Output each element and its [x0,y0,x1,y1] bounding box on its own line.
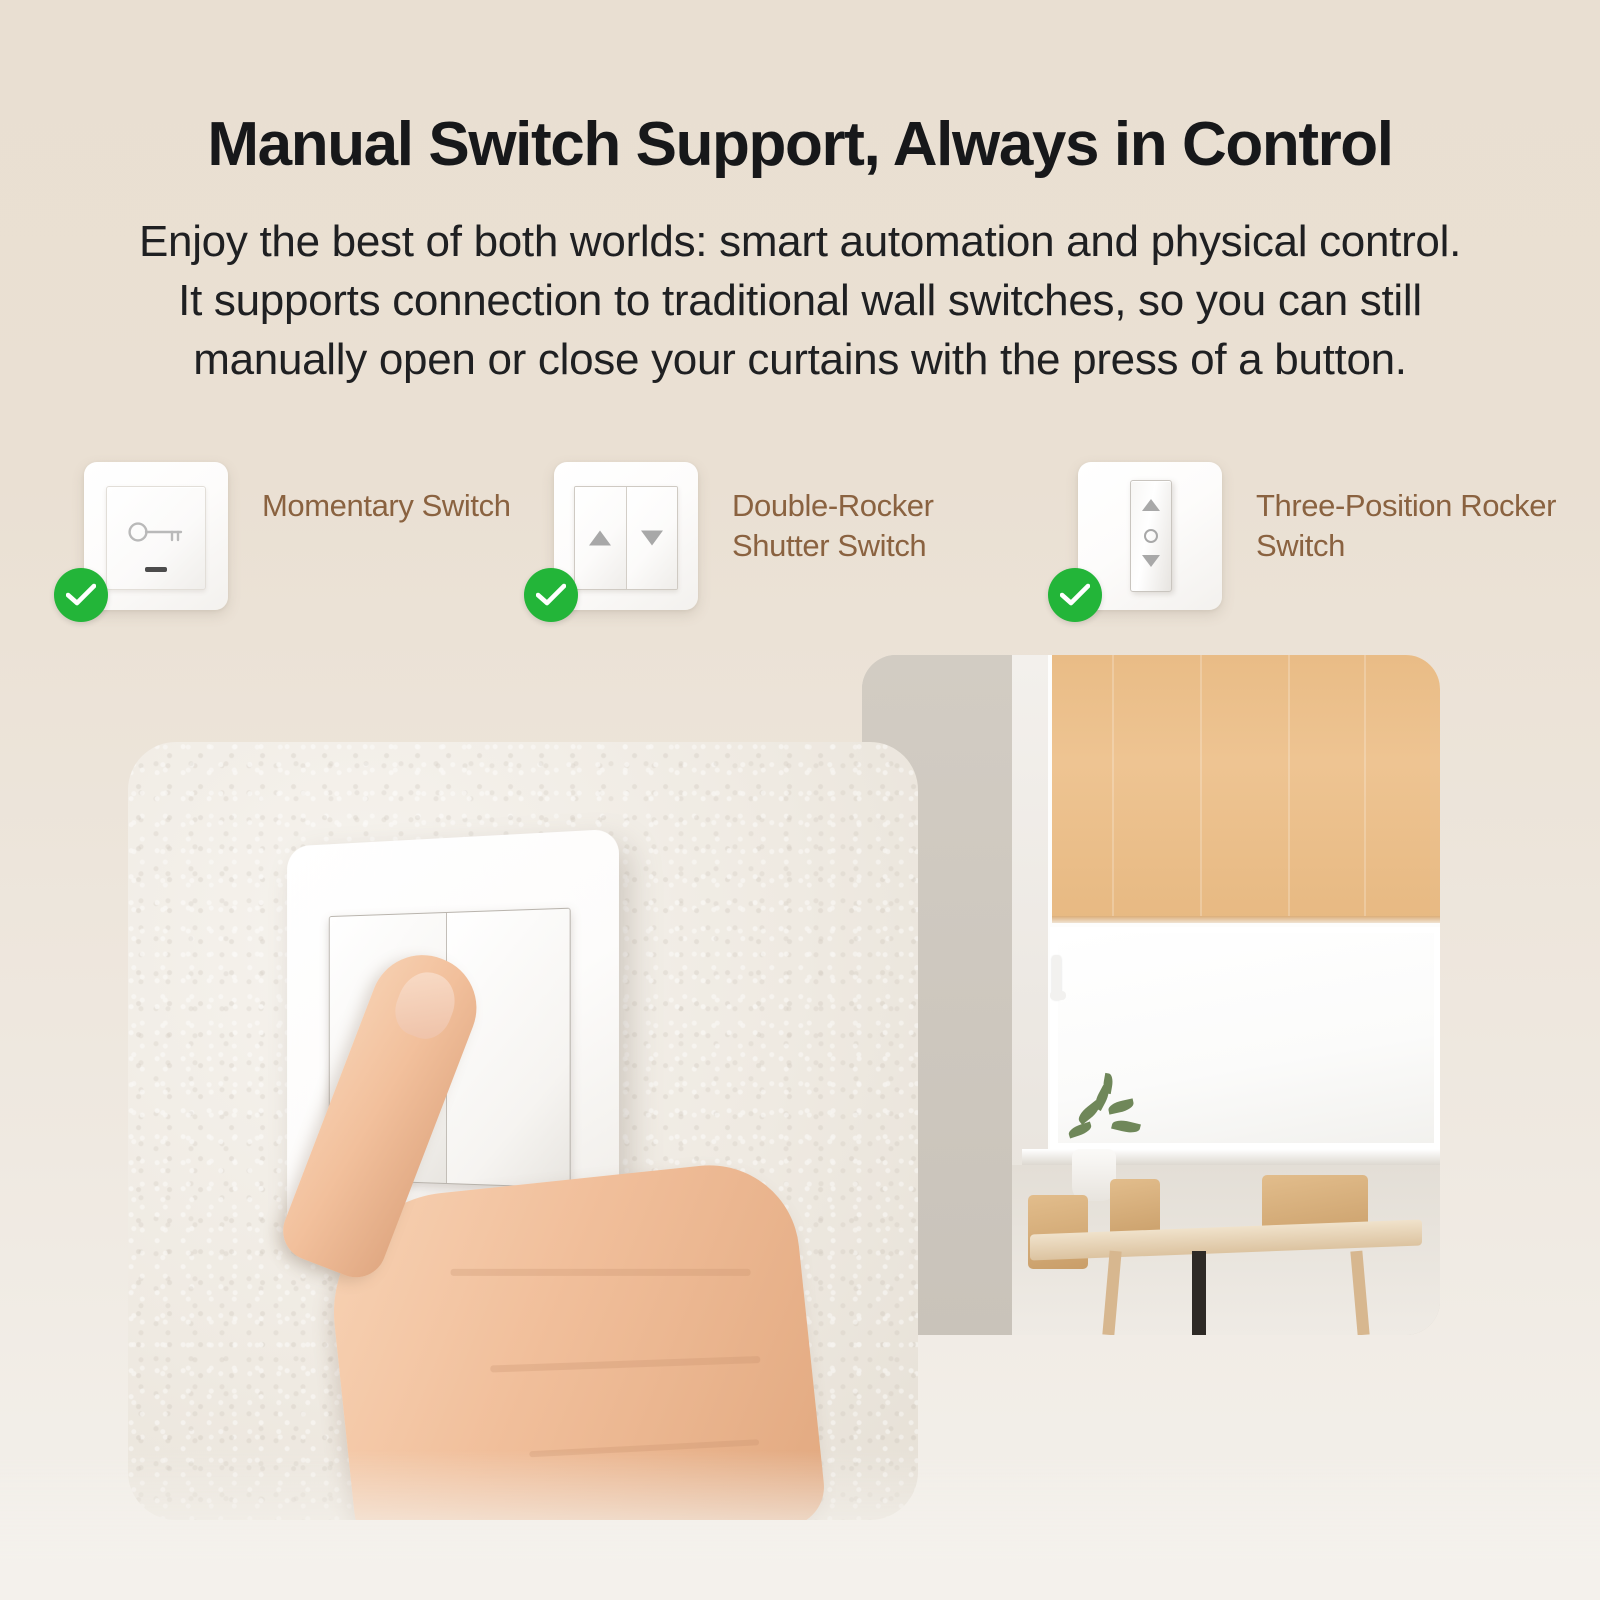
rocker-down [626,487,678,589]
page-subtitle: Enjoy the best of both worlds: smart aut… [135,213,1465,390]
check-badge-icon [1048,568,1102,622]
check-badge-icon [54,568,108,622]
room-window-photo [862,655,1440,1335]
indicator-led [145,567,167,572]
window-handle [1052,955,1061,999]
arrow-down-icon [1142,555,1160,567]
feature-label: Three-Position Rocker Switch [1256,486,1556,565]
hand-pressing-switch-photo [128,742,918,1520]
feature-label: Momentary Switch [262,486,562,526]
switch-illustration-three-position [1070,458,1230,618]
supported-switches-list: Momentary Switch Double-Rocker Shutter S… [0,448,1600,638]
check-badge-icon [524,568,578,622]
circle-stop-icon [1144,529,1158,543]
arrow-up-icon [589,531,611,546]
toggle-paddle [1130,480,1172,592]
arrow-up-icon [1142,499,1160,511]
page-title: Manual Switch Support, Always in Control [0,112,1600,177]
fingernail [388,964,464,1046]
switch-illustration-momentary [76,458,236,618]
rocker-up [575,487,626,589]
arrow-down-icon [641,531,663,546]
table-leg-center [1192,1251,1206,1335]
switch-illustration-double-rocker [546,458,706,618]
feature-label: Double-Rocker Shutter Switch [732,486,1032,565]
roller-blind [1052,655,1440,923]
header-section: Manual Switch Support, Always in Control… [0,0,1600,390]
hand [296,948,916,1520]
rocker-pair [574,486,678,590]
rocker-panel [106,486,206,590]
window-glass [1052,927,1440,1149]
key-icon [127,519,185,545]
